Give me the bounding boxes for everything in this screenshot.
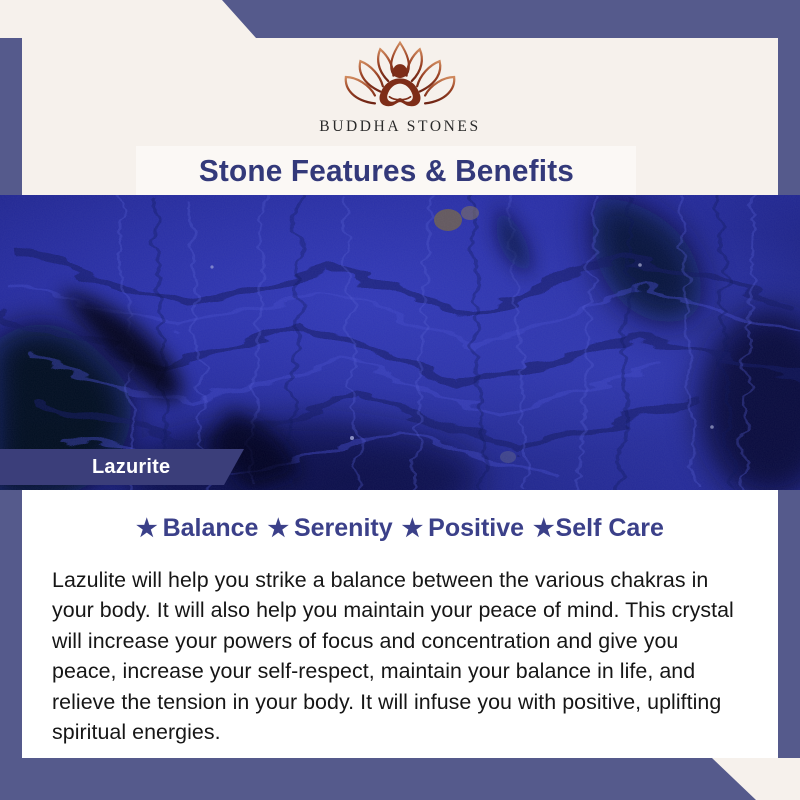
benefit-item-positive: ★ Positive <box>393 514 524 543</box>
benefits-row: ★ Balance ★ Serenity ★ Positive ★ Self C… <box>52 514 748 543</box>
page-title: Stone Features & Benefits <box>198 153 573 189</box>
star-icon: ★ <box>267 517 289 541</box>
brand-header: BUDDHA STONES <box>0 38 800 148</box>
benefit-label: Self Care <box>556 514 664 543</box>
star-icon: ★ <box>533 517 555 541</box>
benefit-label: Serenity <box>294 514 393 543</box>
lotus-meditating-figure-icon <box>334 40 466 114</box>
benefit-item-balance: ★ Balance <box>136 514 258 543</box>
star-icon: ★ <box>402 517 424 541</box>
stone-description: Lazulite will help you strike a balance … <box>52 565 745 748</box>
stone-name-label: Lazurite <box>0 449 244 485</box>
content-card: ★ Balance ★ Serenity ★ Positive ★ Self C… <box>22 490 778 758</box>
benefit-item-serenity: ★ Serenity <box>258 514 392 543</box>
poster-root: BUDDHA STONES Stone Features & Benefits <box>0 0 800 800</box>
stone-name-text: Lazurite <box>92 456 170 479</box>
star-icon: ★ <box>136 517 158 541</box>
lazurite-stone-photo <box>0 195 800 490</box>
brand-name: BUDDHA STONES <box>319 118 480 136</box>
frame-band-top <box>0 0 800 38</box>
benefit-label: Positive <box>428 514 524 543</box>
title-banner: Stone Features & Benefits <box>136 146 636 196</box>
frame-band-bottom <box>0 758 800 800</box>
benefit-item-self-care: ★ Self Care <box>524 514 664 543</box>
benefit-label: Balance <box>163 514 259 543</box>
